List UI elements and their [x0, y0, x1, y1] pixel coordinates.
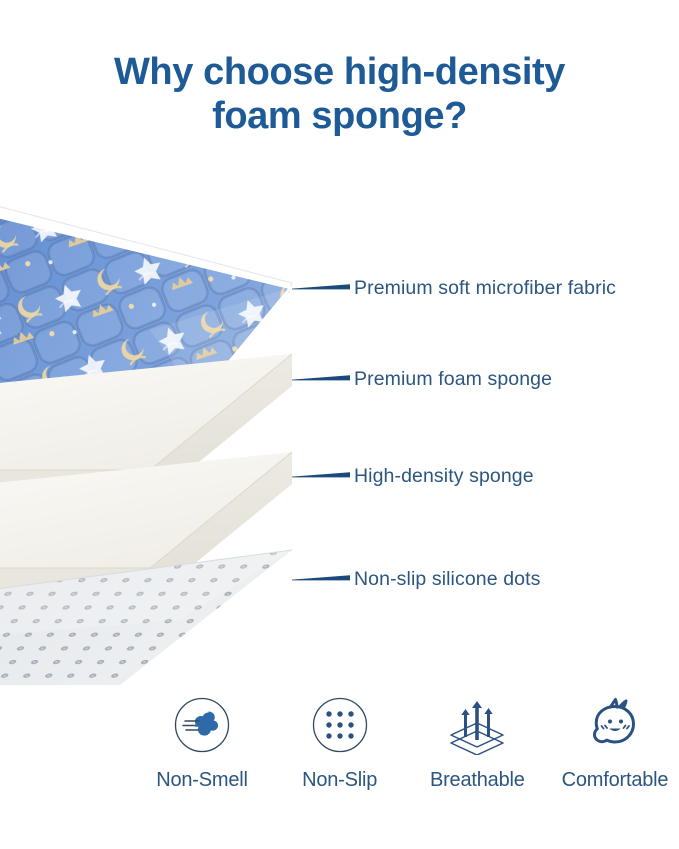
product-layer-stack — [0, 140, 340, 685]
feature-label-breathable: Breathable — [430, 769, 525, 792]
leader-line-icon — [292, 371, 354, 387]
feature-label-non-slip: Non-Slip — [302, 769, 377, 792]
feature-non-smell: Non-Smell — [138, 694, 266, 792]
callout-label-2: High-density sponge — [354, 465, 534, 488]
callout-high-density-sponge: High-density sponge — [292, 462, 534, 490]
page-title-line-1: Why choose high-density — [0, 50, 679, 94]
airflow-layers-icon — [446, 694, 508, 756]
feature-label-non-smell: Non-Smell — [156, 769, 248, 792]
callout-label-1: Premium foam sponge — [354, 368, 552, 391]
feature-label-comfortable: Comfortable — [562, 769, 669, 792]
feature-non-slip: Non-Slip — [276, 694, 404, 792]
feature-breathable: Breathable — [413, 694, 541, 792]
leader-line-icon — [292, 468, 354, 484]
callout-label-3: Non-slip silicone dots — [354, 568, 540, 591]
page-title: Why choose high-density foam sponge? — [0, 50, 679, 138]
leader-line-icon — [292, 571, 354, 587]
infographic-page: Why choose high-density foam sponge? — [0, 0, 679, 849]
feature-comfortable: Comfortable — [551, 694, 679, 792]
feature-row: Non-Smell Non-Slip — [138, 694, 679, 792]
callout-label-0: Premium soft microfiber fabric — [354, 277, 616, 300]
callout-silicone-dots: Non-slip silicone dots — [292, 565, 540, 593]
callout-premium-foam: Premium foam sponge — [292, 365, 552, 393]
callout-microfiber-fabric: Premium soft microfiber fabric — [292, 274, 616, 302]
leader-line-icon — [292, 280, 354, 296]
odor-waves-icon — [171, 694, 233, 756]
dot-grid-icon — [309, 694, 371, 756]
page-title-line-2: foam sponge? — [0, 94, 679, 138]
baby-face-icon — [584, 694, 646, 756]
